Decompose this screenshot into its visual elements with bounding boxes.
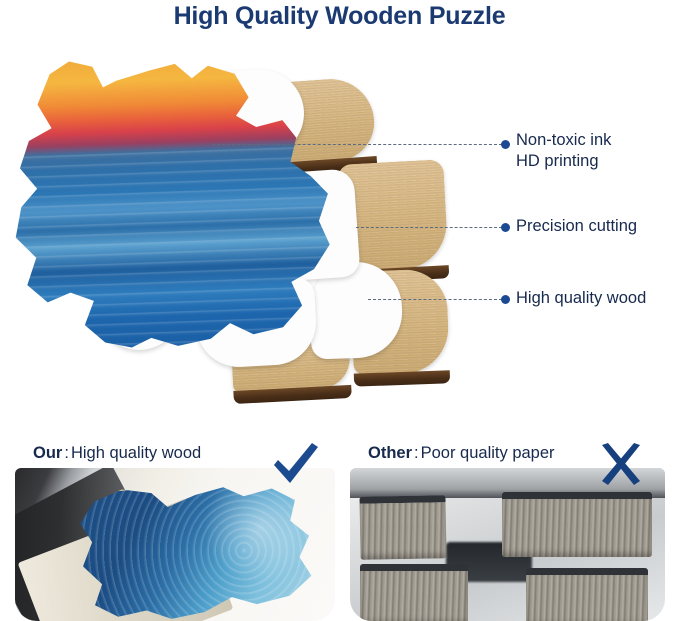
cardboard-block — [526, 568, 648, 621]
callout-leader-line-2 — [356, 227, 502, 228]
comparison-text-ours: High quality wood — [71, 444, 201, 462]
cardboard-block — [502, 492, 652, 557]
comparison-lead-ours: Our — [33, 444, 62, 462]
comparison-separator-ours: : — [62, 444, 71, 462]
comparison-lead-other: Other — [368, 444, 412, 462]
callout-label-high-quality-wood: High quality wood — [516, 288, 646, 309]
page-title: High Quality Wooden Puzzle — [0, 2, 679, 31]
wood-edge — [233, 385, 352, 404]
callout-dot-2 — [501, 223, 510, 232]
puzzle-product-image — [0, 44, 500, 404]
cardboard-block — [359, 495, 446, 559]
comparison-separator-other: : — [412, 444, 421, 462]
wood-edge — [354, 370, 450, 386]
callout-label-precision-cutting: Precision cutting — [516, 216, 637, 237]
cardboard-block — [360, 564, 468, 621]
comparison-photo-ours — [15, 468, 335, 621]
callout-leader-line-1 — [212, 144, 502, 145]
callout-leader-line-3 — [368, 299, 502, 300]
comparison-label-other: Other:Poor quality paper — [368, 444, 555, 463]
x-icon — [598, 443, 644, 492]
check-icon — [272, 443, 320, 490]
callout-dot-3 — [501, 295, 510, 304]
callout-label-non-toxic-ink: Non-toxic ink HD printing — [516, 130, 611, 172]
comparison-label-ours: Our:High quality wood — [33, 444, 201, 463]
comparison-text-other: Poor quality paper — [421, 444, 555, 462]
hero-section: Non-toxic ink HD printing Precision cutt… — [0, 44, 679, 424]
callout-dot-1 — [501, 140, 510, 149]
comparison-section: Our:High quality wood Other:Poor quality… — [0, 436, 679, 621]
